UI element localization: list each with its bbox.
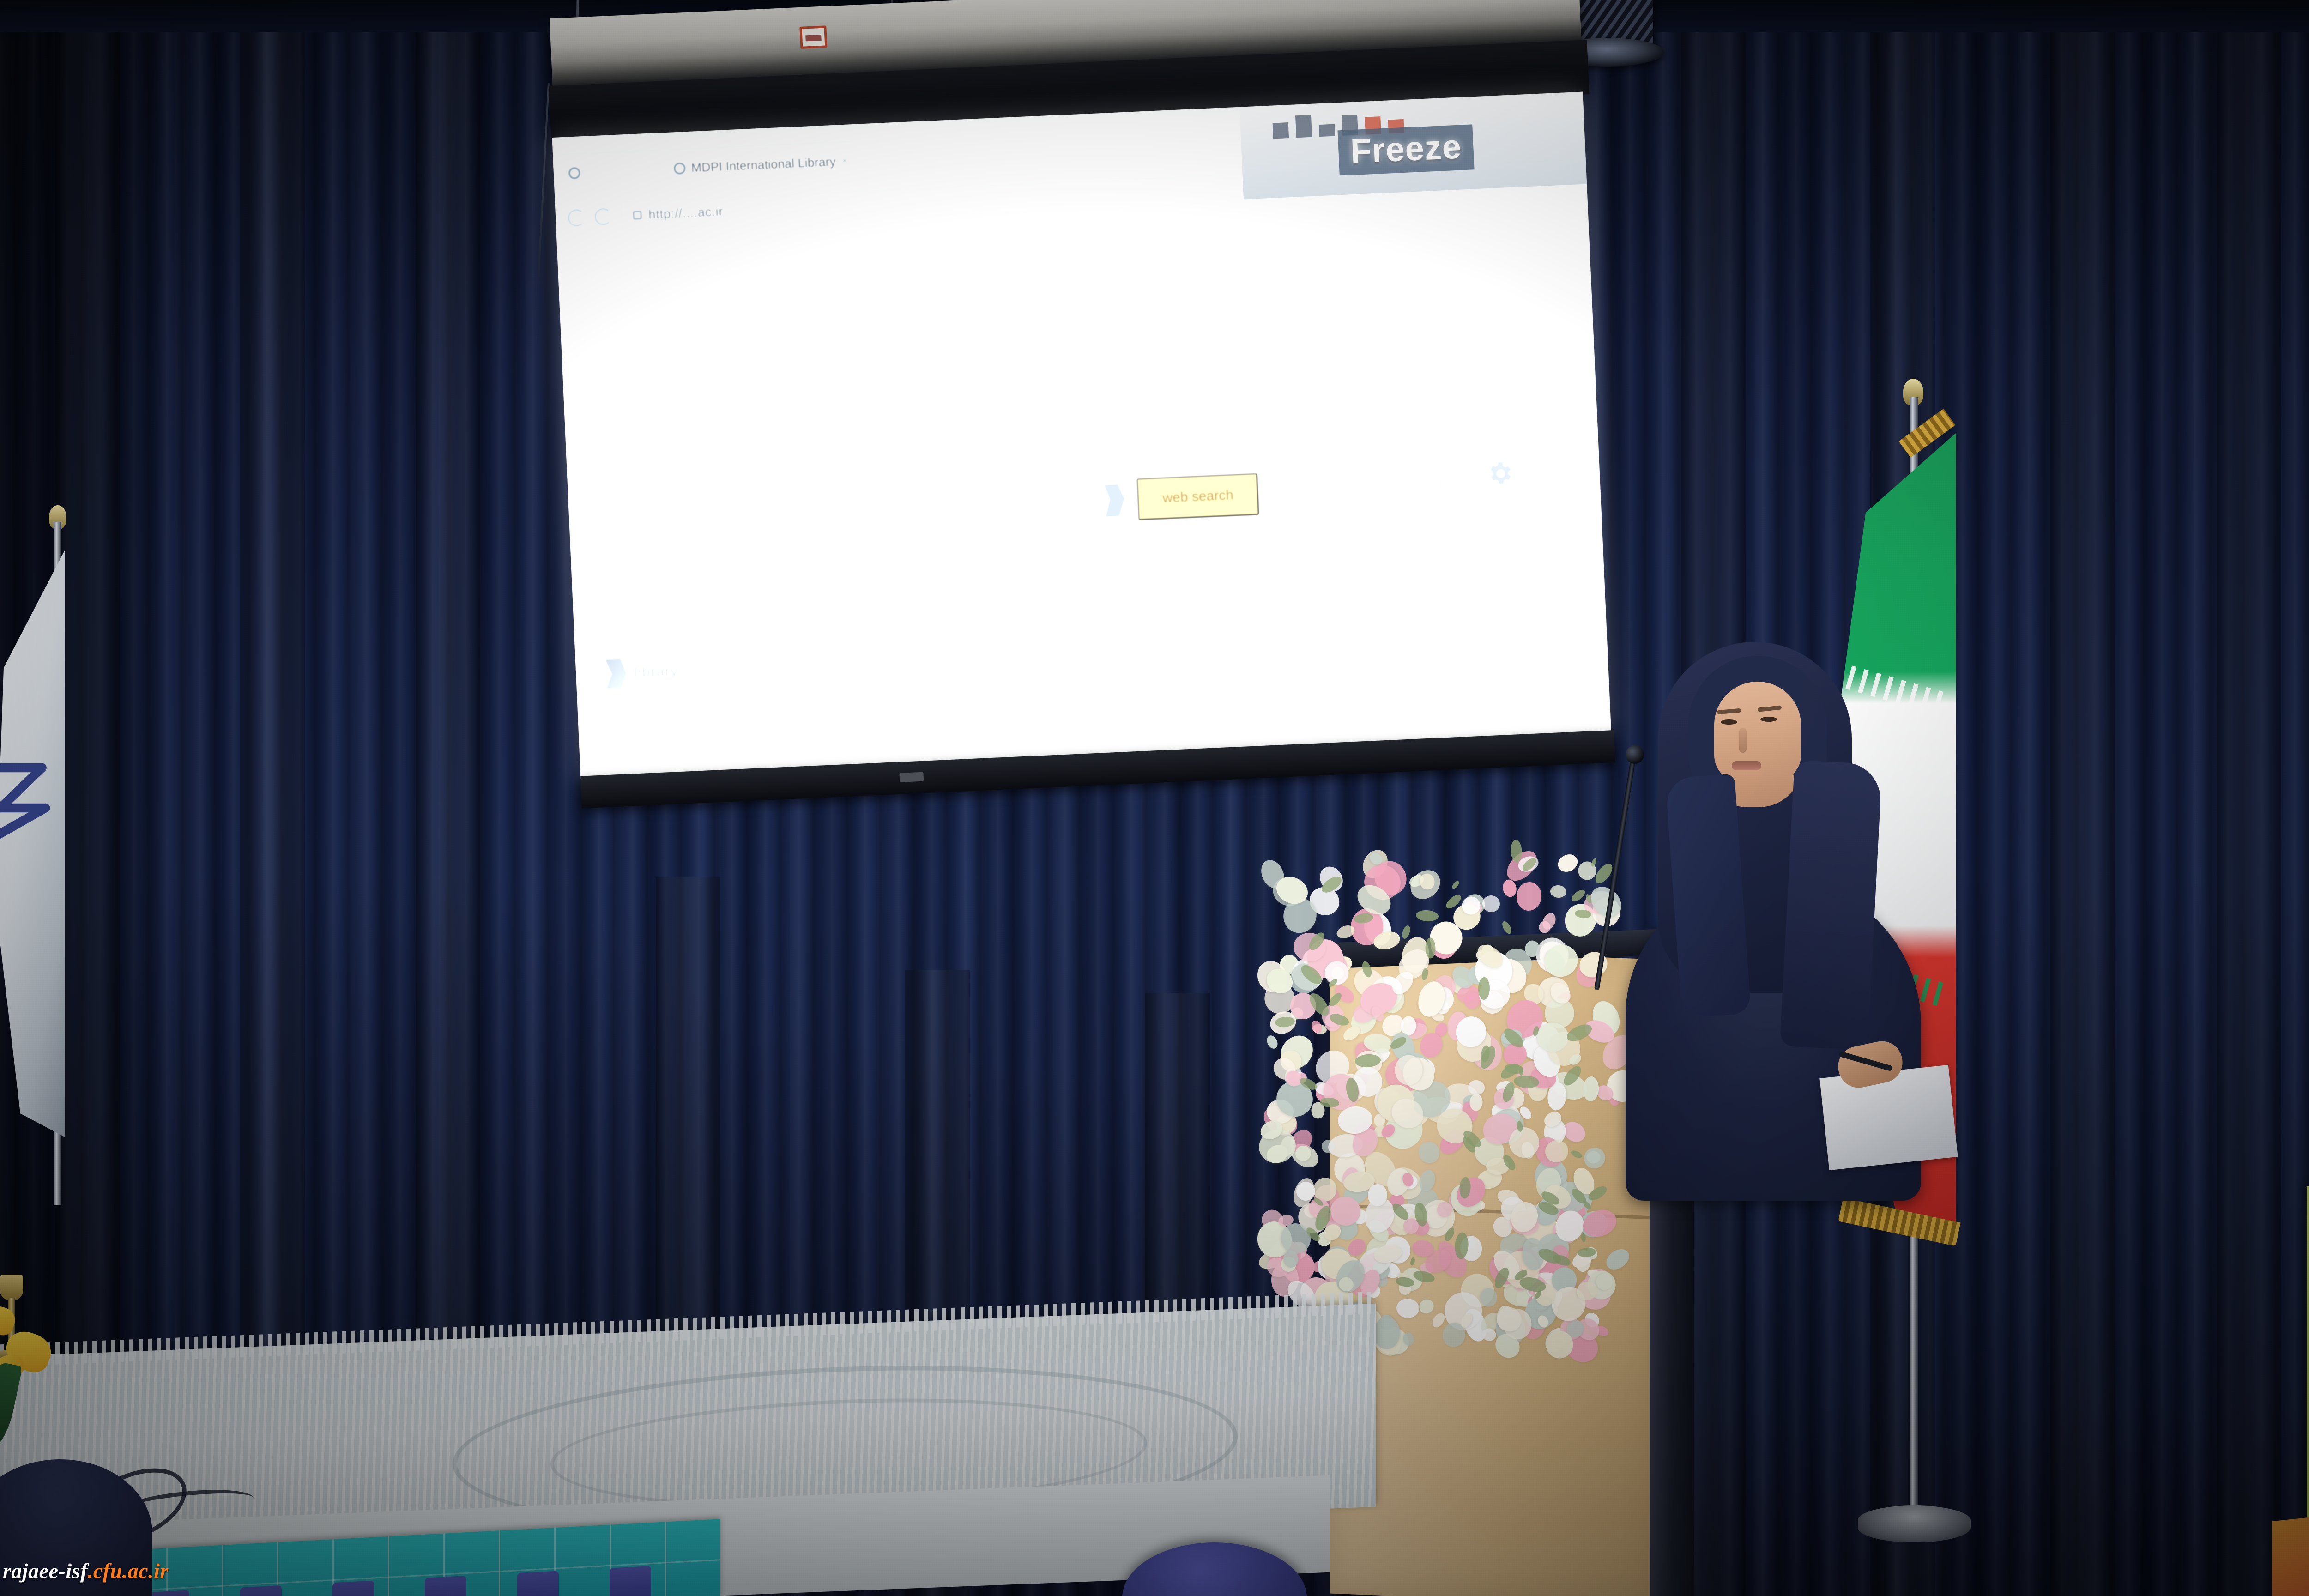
watermark-name: rajaee-isf — [3, 1559, 88, 1583]
photo-vignette — [0, 0, 2309, 1596]
site-watermark: rajaee-isf.cfu.ac.ir — [3, 1559, 169, 1583]
watermark-domain: .cfu.ac.ir — [88, 1559, 169, 1583]
conference-hall-photo: MDPI International Library × http://....… — [0, 0, 2309, 1596]
